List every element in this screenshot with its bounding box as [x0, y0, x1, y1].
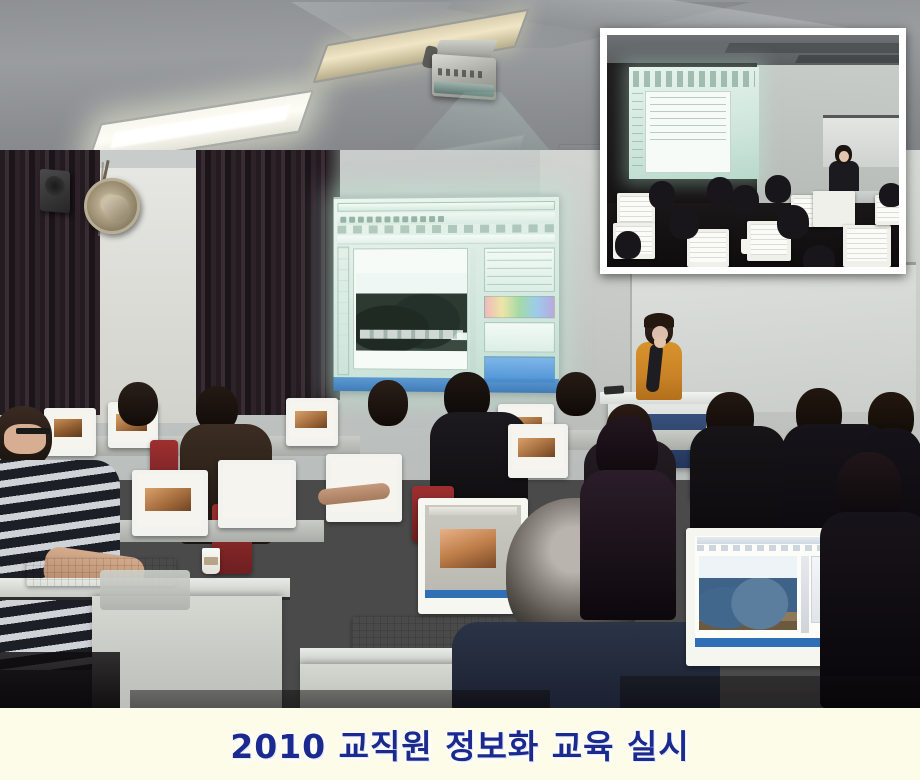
foreground-shadow — [130, 690, 550, 708]
inset-paper-cup — [741, 239, 751, 254]
mouse-pad — [100, 570, 190, 610]
projected-tool-palette — [337, 246, 349, 375]
student-head — [118, 382, 158, 426]
monitor-screen — [847, 228, 887, 261]
inset-student-head — [731, 185, 759, 215]
projected-mountain-photo — [356, 273, 467, 351]
toolbar-icon — [376, 216, 382, 222]
foreground-shadow — [620, 676, 920, 708]
student-monitor — [508, 424, 568, 478]
inset-student-head — [879, 183, 899, 207]
inset-student-head — [649, 181, 675, 209]
monitor-screen — [620, 196, 652, 223]
wall-fan-icon — [84, 178, 140, 234]
wall-speaker-icon — [40, 169, 70, 214]
inset-classroom-photo — [607, 35, 899, 267]
screen-taskbar — [695, 638, 832, 647]
inset-instructor-body — [829, 161, 859, 195]
inset-photo-frame — [600, 28, 906, 274]
projected-color-panel — [484, 296, 555, 318]
page-root: 2010 교직원 정보화 교육 실시 — [0, 0, 920, 780]
projected-title-bar — [337, 201, 554, 212]
screen-title-bar — [429, 507, 518, 515]
toolbar-icon — [349, 216, 355, 222]
monitor-screen — [289, 401, 335, 439]
screen-mountain-photo — [699, 556, 797, 630]
inset-student-head — [765, 175, 791, 203]
projected-menu-bar — [337, 224, 554, 233]
instructor-hand — [654, 336, 666, 348]
inset-instructor-face — [839, 151, 849, 162]
inset-student-head — [615, 231, 641, 259]
toolbar-icon — [411, 216, 417, 222]
foreground-monitor-right — [686, 528, 842, 666]
toolbar-icon — [358, 216, 364, 222]
student-head — [368, 380, 408, 426]
inset-projected-header — [633, 71, 755, 87]
monitor-screen — [137, 474, 204, 527]
caption-band: 2010 교직원 정보화 교육 실시 — [0, 708, 920, 780]
student-monitor — [218, 460, 296, 528]
toolbar-icon — [429, 216, 435, 222]
caption-title: 2010 교직원 정보화 교육 실시 — [230, 720, 689, 768]
projected-history-panel — [484, 322, 555, 353]
monitor-screen — [690, 232, 725, 262]
projected-canvas — [353, 248, 468, 370]
student-torso — [580, 470, 676, 620]
monitor-screen — [223, 464, 292, 518]
inset-student-head — [707, 177, 733, 205]
inset-whiteboard — [823, 115, 899, 167]
toolbar-icon — [438, 216, 444, 222]
monitor-screen — [695, 536, 832, 646]
podium-object — [604, 385, 625, 394]
inset-student-head — [669, 207, 699, 239]
inset-student-head — [777, 205, 809, 239]
paper-cup — [202, 548, 220, 574]
projected-layers-panel — [484, 247, 555, 291]
inset-student-monitor — [843, 225, 891, 267]
inset-projected-document — [645, 91, 731, 173]
toolbar-icon — [340, 216, 346, 222]
toolbar-icon — [367, 216, 373, 222]
projected-options-bar — [337, 234, 554, 244]
projected-toolbar — [337, 212, 554, 225]
projection-screen — [334, 195, 559, 393]
inset-ceiling-bar — [795, 55, 899, 63]
projected-canvas-divider — [470, 248, 476, 376]
eyeglasses-icon — [16, 428, 50, 434]
screen-toolbar — [697, 545, 830, 551]
projected-panel-stack — [484, 247, 555, 376]
screen-sunset-photo — [440, 529, 496, 568]
screen-title-bar — [697, 537, 830, 544]
toolbar-icon — [393, 216, 399, 222]
monitor-screen — [512, 427, 565, 470]
toolbar-icon — [402, 216, 408, 222]
monitor-screen — [47, 411, 93, 449]
panel-rows — [487, 252, 552, 288]
foreground-shadow — [0, 652, 120, 708]
inset-windows-desktop-monitor — [813, 191, 855, 227]
main-classroom-photo — [0, 0, 920, 708]
screen-scrollbar[interactable] — [801, 556, 809, 632]
monitor-screen — [816, 194, 851, 222]
student-monitor — [286, 398, 338, 446]
inset-student-head — [803, 245, 835, 267]
student-head — [556, 372, 596, 416]
inset-projection-screen — [629, 67, 759, 179]
toolbar-icon — [385, 216, 391, 222]
student-monitor — [132, 470, 208, 536]
inset-projected-sidebar — [632, 93, 643, 173]
curtain-center — [196, 150, 332, 415]
inset-ceiling-bar — [725, 43, 899, 53]
toolbar-icon — [420, 216, 426, 222]
